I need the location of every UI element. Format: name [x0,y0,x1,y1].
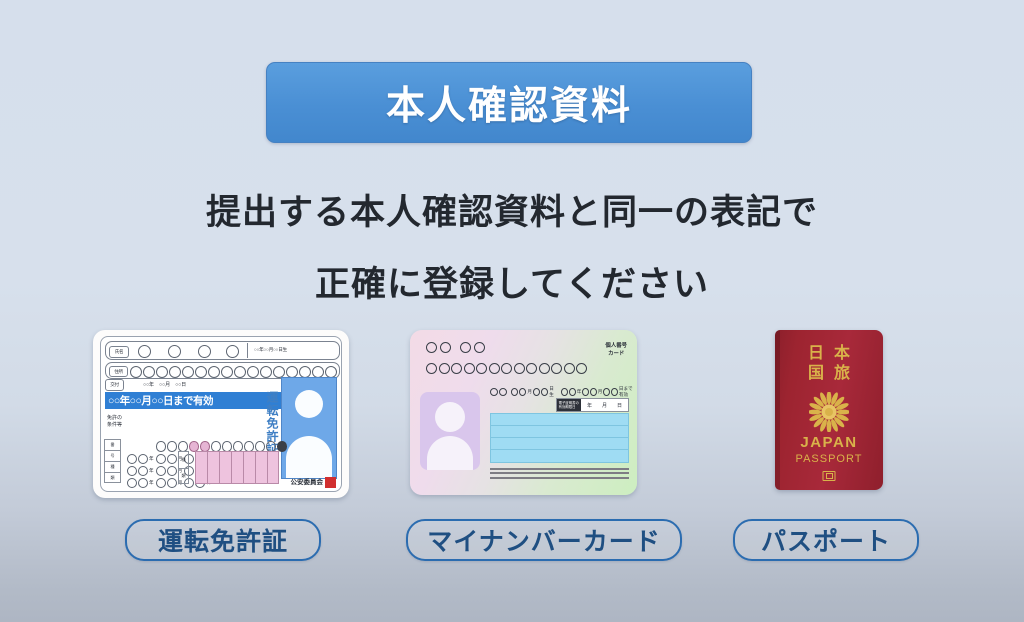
number-digit [233,441,243,452]
addr-char-ring [234,366,246,378]
addr-char-ring [260,366,272,378]
bottom-line [490,468,629,470]
title-text: 本人確認資料 [386,75,632,131]
addr-char-ring [182,366,194,378]
grid-label-cell: 類 [178,468,189,485]
left-col-cell: 号 [104,450,121,461]
license-left-column: 番 号 種 類 [104,439,121,483]
avatar-body [286,436,332,479]
addr-char-ring [325,366,337,378]
grid-cell [231,451,243,484]
bottom-line [490,472,629,474]
number-digit [178,441,188,452]
license-category-grid [195,451,279,484]
grid-label-cell: 種 [178,451,189,468]
addr-char-ring [143,366,155,378]
addr-char-ring [221,366,233,378]
kanji-char: 旅 [834,365,850,383]
field-year: 年 [587,402,592,409]
license-issue-row: 交付 ○○年 ○○月 ○○日 [105,379,270,390]
kanji-row-2: 国 旅 [808,365,850,383]
name-char-ring [168,345,181,358]
mynumber-address-block [490,413,629,463]
slide-canvas: 本人確認資料 提出する本人確認資料と同一の表記で 正確に登録してください 氏名 … [0,0,1024,622]
name-divider [247,343,248,358]
title-banner: 本人確認資料 [266,62,752,143]
addr-char-ring [273,366,285,378]
mynumber-card-title: 個人番号 カード [605,342,627,358]
field-day: 日 [617,402,622,409]
addr-char-ring [130,366,142,378]
drivers-license-illustration: 氏名 ○○年○○月○○日生 住所 [93,330,349,498]
license-issue-date: ○○年 ○○月 ○○日 [143,381,186,388]
ic-chip-icon [823,471,836,481]
avatar-head [295,390,323,418]
number-digit [156,441,166,452]
mynumber-certificate-expiry-box: 電子証明書の 有効期限日 年 月 日 [556,398,629,412]
license-number-row [156,441,287,452]
number-digit-filled [277,441,287,452]
license-birthdate-text: ○○年○○月○○日生 [254,347,287,353]
mynumber-address-row [426,363,587,374]
license-authority-text: 公安委員会 [291,476,324,486]
number-digit [255,441,265,452]
document-examples-row: 氏名 ○○年○○月○○日生 住所 [0,330,1024,510]
field-month: 月 [602,402,607,409]
cert-label-line-2: 有効期限日 [559,405,579,409]
license-inner-frame: 氏名 ○○年○○月○○日生 住所 [100,336,342,492]
left-col-cell: 種 [104,461,121,472]
subtitle-line-1: 提出する本人確認資料と同一の表記で [0,184,1024,235]
number-digit-highlight [189,441,199,452]
license-conditions-label: 免許の 条件等 [107,415,122,429]
kanji-char: 国 [808,365,824,383]
official-seal-icon [325,477,336,488]
addr-char-ring [169,366,181,378]
number-digit [244,441,254,452]
caption-drivers-license: 運転免許証 [125,519,321,561]
card-title-line-1: 個人番号 [605,342,627,350]
mynumber-bottom-lines [490,468,629,482]
grid-cell [255,451,267,484]
grid-cell [243,451,255,484]
grid-cell [219,451,231,484]
grid-cell [267,451,279,484]
left-col-cell: 類 [104,472,121,483]
passport-kanji-title: 日 本 国 旅 [775,345,883,383]
number-digit [266,441,276,452]
mynumber-birthdate-row: 月日生 年月日まで有効 [490,386,637,398]
license-name-row: 氏名 ○○年○○月○○日生 [105,341,340,360]
passport-document-text: PASSPORT [775,453,883,465]
my-number-card-illustration: 月日生 年月日まで有効 個人番号 カード 電子証明書の 有効期限日 年 月 日 [410,330,637,495]
kanji-row-1: 日 本 [808,345,850,363]
kanji-char: 日 [808,345,824,363]
addr-char-ring [299,366,311,378]
conditions-line-1: 免許の [107,415,122,422]
addr-char-ring [195,366,207,378]
grid-cell [207,451,219,484]
grid-cell [195,451,207,484]
number-digit [211,441,221,452]
license-issue-label: 交付 [105,379,124,391]
left-col-cell: 番 [104,439,121,450]
addr-char-ring [312,366,324,378]
caption-my-number-card: マイナンバーカード [406,519,682,561]
card-title-line-2: カード [605,350,627,358]
name-char-ring [138,345,151,358]
mynumber-name-row [426,342,485,353]
license-photo-placeholder [281,377,337,479]
avatar-head [435,402,465,432]
addr-char-ring [247,366,259,378]
caption-passport: パスポート [733,519,919,561]
number-digit [167,441,177,452]
certificate-expiry-fields: 年 月 日 [581,399,628,411]
passport-country-text: JAPAN [775,434,883,451]
bottom-line [490,477,629,479]
addr-char-ring [208,366,220,378]
subtitle-line-2: 正確に登録してください [0,256,1024,307]
license-expiry-text: ○○年○○月○○日まで有効 [108,393,213,408]
name-char-ring [226,345,239,358]
name-char-ring [198,345,211,358]
conditions-line-2: 条件等 [107,422,122,429]
addr-char-ring [156,366,168,378]
passport-illustration: 日 本 国 旅 [775,330,883,490]
avatar-body [427,436,473,470]
addr-char-ring [286,366,298,378]
license-grid-label-column: 種 類 [178,451,189,484]
chrysanthemum-crest-icon [809,392,849,432]
certificate-expiry-label: 電子証明書の 有効期限日 [557,399,581,411]
number-digit-highlight [200,441,210,452]
mynumber-photo-placeholder [420,392,480,470]
license-address-label: 住所 [109,366,128,377]
license-name-label: 氏名 [109,346,129,358]
kanji-char: 本 [834,345,850,363]
number-digit [222,441,232,452]
